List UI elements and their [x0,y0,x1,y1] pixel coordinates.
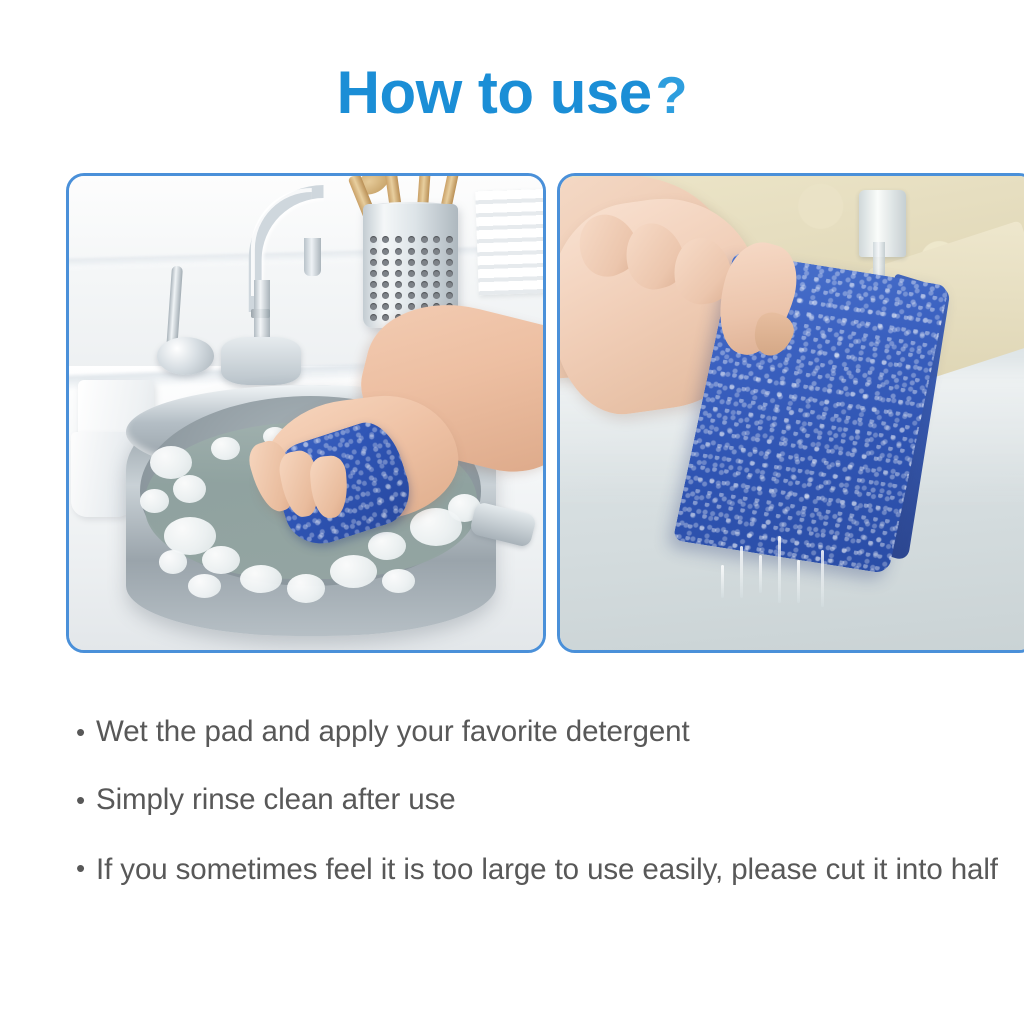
foam-bubble [287,574,325,602]
page-title-text: How to use [337,59,652,126]
faucet-handle-knob [157,337,214,375]
water-drip [759,555,762,593]
bullet-icon: • [76,712,96,752]
list-item: • If you sometimes feel it is too large … [76,848,1006,892]
water-drip [721,565,724,598]
bullet-icon: • [76,780,96,820]
photo-rinsing-sponge [557,173,1024,653]
page-title-question-mark: ? [656,67,688,125]
foam-bubble [202,546,240,574]
list-item-text: Simply rinse clean after use [96,780,1006,820]
how-to-use-infographic: How to use? [0,0,1024,1024]
list-item-text: Wet the pad and apply your favorite dete… [96,712,1006,752]
white-mug-front [71,432,133,517]
foam-bubble [368,532,406,560]
list-item-text: If you sometimes feel it is too large to… [96,848,1006,892]
page-title: How to use? [0,58,1024,127]
left-photo-scene [69,176,543,650]
foam-bubble [188,574,221,598]
faucet-base [221,337,302,384]
water-drip [821,550,824,607]
photo-washing-pot-with-sponge [66,173,546,653]
bullet-icon: • [76,848,96,888]
list-item: • Wet the pad and apply your favorite de… [76,712,1006,752]
faucet-spout-tip [304,238,321,276]
instruction-list: • Wet the pad and apply your favorite de… [76,712,1006,920]
background-dish-rack [475,189,543,296]
faucet-collar [251,309,270,318]
water-drip [778,536,781,602]
water-drip [740,546,743,598]
water-drip [797,560,800,603]
right-photo-scene [560,176,1024,650]
foam-bubble [382,569,415,593]
foam-bubble [240,565,283,593]
list-item: • Simply rinse clean after use [76,780,1006,820]
foam-bubble [211,437,239,461]
foam-bubble [140,489,168,513]
